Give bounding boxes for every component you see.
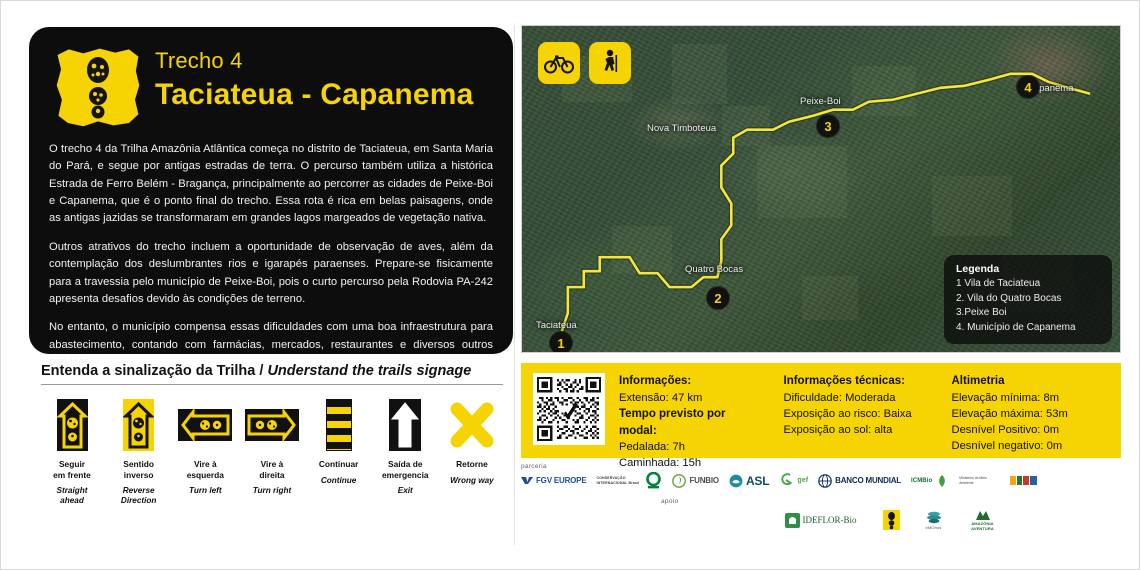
wrong-way-cross-sign-icon bbox=[441, 397, 503, 453]
banco-mundial-logo-text: BANCO MUNDIAL bbox=[835, 476, 901, 485]
gef-logo-text: gef bbox=[797, 477, 808, 484]
fgv-europe-logo-text: FGV EUROPE bbox=[536, 476, 586, 485]
signage-label-en: Turn right bbox=[241, 486, 303, 496]
support-block: apoio IDEFLOR-Bio bbox=[521, 498, 1121, 531]
info-heading: Informações técnicas: bbox=[784, 373, 934, 390]
signage-item: Continuar Continue bbox=[308, 397, 370, 507]
asl-logo: ASL bbox=[729, 474, 769, 488]
signage-item: Saída de emergencia Exit bbox=[374, 397, 436, 507]
reverse-direction-sign-icon bbox=[108, 397, 170, 453]
map-city-label: Quatro Bocas bbox=[685, 264, 743, 275]
partnership-logo-row: FGV EUROPE CONSERVAÇÃO INTERNACIONAL Bra… bbox=[521, 472, 1121, 489]
info-column-altimetry: Altimetria Elevação mínima: 8m Elevação … bbox=[951, 373, 1091, 455]
gef-logo: gef bbox=[779, 472, 808, 489]
route-map[interactable]: Nova Timboteua Peixe-Boi Capanema Quatro… bbox=[521, 25, 1121, 353]
map-legend: Legenda 1 Vila de Taciateua 2. Vila do Q… bbox=[944, 255, 1112, 344]
card-header-texts: Trecho 4 Taciateua - Capanema bbox=[155, 43, 474, 111]
straight-ahead-sign-icon bbox=[41, 397, 103, 453]
map-marker-2[interactable]: 2 bbox=[707, 287, 729, 309]
map-marker-3[interactable]: 3 bbox=[817, 115, 839, 137]
map-legend-entry: 4. Município de Capanema bbox=[956, 321, 1100, 336]
info-value: Elevação máxima: 53m bbox=[951, 406, 1091, 422]
fgv-europe-logo: FGV EUROPE bbox=[521, 476, 586, 485]
signage-title: Entenda a sinalização da Trilha / Unders… bbox=[41, 363, 503, 385]
partnership-label: parceria bbox=[521, 463, 1121, 470]
signage-item: Seguir em frente Straight ahead bbox=[41, 397, 103, 507]
signage-label-pt: Retorne bbox=[441, 459, 503, 470]
info-value: Extensão: 47 km bbox=[619, 390, 766, 406]
icmbio-logo-text: ICMBio bbox=[911, 478, 932, 484]
signage-title-pt: Entenda a sinalização da Trilha bbox=[41, 363, 255, 379]
map-marker-4[interactable]: 4 bbox=[1017, 76, 1039, 98]
amazonia-aventura-logo: AMAZÔNIA AVENTURA bbox=[968, 509, 998, 531]
signage-label-en: Continue bbox=[308, 476, 370, 486]
info-value: Exposição ao risco: Baixa bbox=[784, 406, 934, 422]
map-city-label: Nova Timboteua bbox=[647, 123, 716, 134]
signage-item: Vire à direita Turn right bbox=[241, 397, 303, 507]
icmbio-logo: ICMBio bbox=[911, 474, 949, 488]
map-city-label: Peixe-Boi bbox=[800, 96, 841, 107]
travel-mode-buttons bbox=[538, 42, 631, 84]
signage-label-en: Straight ahead bbox=[41, 486, 103, 507]
emergency-exit-sign-icon bbox=[374, 397, 436, 453]
info-value: Dificuldade: Moderada bbox=[784, 390, 934, 406]
support-label: apoio bbox=[661, 498, 1121, 505]
description-paragraph: Outros atrativos do trecho incluem a opo… bbox=[49, 239, 493, 308]
info-heading: Tempo previsto por modal: bbox=[619, 406, 766, 439]
emohos-logo: eMOhos bbox=[926, 511, 942, 530]
trail-description-card: Trecho 4 Taciateua - Capanema O trecho 4… bbox=[29, 27, 513, 354]
sponsor-logos-section: parceria FGV EUROPE CONSERVAÇÃO INTERNAC… bbox=[521, 463, 1121, 531]
map-legend-title: Legenda bbox=[956, 263, 1100, 275]
info-column-general: Informações: Extensão: 47 km Tempo previ… bbox=[619, 373, 766, 472]
map-legend-entry: 1 Vila de Taciateua bbox=[956, 277, 1100, 292]
signage-title-separator: / bbox=[255, 363, 267, 379]
trilha-logo bbox=[883, 510, 900, 530]
vertical-divider bbox=[514, 25, 515, 545]
signage-label-en: Exit bbox=[374, 486, 436, 496]
signage-label-en: Turn left bbox=[174, 486, 236, 496]
info-heading: Informações: bbox=[619, 373, 766, 390]
info-value: Desnível Positivo: 0m bbox=[951, 422, 1091, 438]
support-logo-row: IDEFLOR-Bio eMOho bbox=[661, 509, 1121, 531]
ministerio-meio-ambiente-logo: Ministério do Meio Ambiente bbox=[959, 476, 999, 485]
description-body: O trecho 4 da Trilha Amazônia Atlântica … bbox=[49, 141, 493, 371]
map-city-label: Taciateua bbox=[536, 320, 577, 331]
qr-code-icon[interactable] bbox=[533, 373, 605, 445]
signage-label-pt: Vire à esquerda bbox=[174, 459, 236, 480]
card-header: Trecho 4 Taciateua - Capanema bbox=[49, 43, 493, 127]
info-value: Exposição ao sol: alta bbox=[784, 422, 934, 438]
conservacao-internacional-logo-text: CONSERVAÇÃO INTERNACIONAL Brasil bbox=[596, 476, 642, 485]
signage-items-row: Seguir em frente Straight ahead bbox=[41, 397, 503, 507]
banco-mundial-logo: BANCO MUNDIAL bbox=[818, 474, 901, 488]
signage-item: Retorne Wrong way bbox=[441, 397, 503, 507]
signage-label-en: Reverse Direction bbox=[108, 486, 170, 507]
map-legend-entry: 2. Vila do Quatro Bocas bbox=[956, 292, 1100, 307]
turn-right-sign-icon bbox=[241, 397, 303, 453]
trail-brush-logo-icon bbox=[55, 47, 141, 127]
signage-label-pt: Sentido inverso bbox=[108, 459, 170, 480]
info-value: Elevação mínima: 8m bbox=[951, 390, 1091, 406]
signage-label-pt: Vire à direita bbox=[241, 459, 303, 480]
section-label: Trecho 4 bbox=[155, 49, 474, 73]
signage-label-pt: Seguir em frente bbox=[41, 459, 103, 480]
info-value: Pedalada: 7h bbox=[619, 439, 766, 455]
turn-left-sign-icon bbox=[174, 397, 236, 453]
signage-legend-section: Entenda a sinalização da Trilha / Unders… bbox=[41, 363, 503, 507]
page-title: Taciateua - Capanema bbox=[155, 78, 474, 111]
funbio-logo-text: FUNBIO bbox=[689, 476, 718, 485]
signage-label-en: Wrong way bbox=[441, 476, 503, 486]
signage-item: Vire à esquerda Turn left bbox=[174, 397, 236, 507]
hiker-icon[interactable] bbox=[589, 42, 631, 84]
map-legend-entry: 3.Peixe Boi bbox=[956, 306, 1100, 321]
emohos-logo-text: eMOhos bbox=[926, 525, 942, 530]
ideflor-bio-logo-text: IDEFLOR-Bio bbox=[803, 515, 857, 525]
description-paragraph: O trecho 4 da Trilha Amazônia Atlântica … bbox=[49, 141, 493, 228]
info-value: Desnível negativo: 0m bbox=[951, 438, 1091, 454]
signage-title-en: Understand the trails signage bbox=[267, 363, 471, 379]
info-heading: Altimetria bbox=[951, 373, 1091, 390]
asl-logo-text: ASL bbox=[746, 474, 769, 488]
info-column-technical: Informações técnicas: Dificuldade: Moder… bbox=[784, 373, 934, 438]
map-marker-1[interactable]: 1 bbox=[550, 332, 572, 353]
governo-federal-logo bbox=[1009, 474, 1039, 487]
signage-label-pt: Continuar bbox=[308, 459, 370, 470]
poster-root: Trecho 4 Taciateua - Capanema O trecho 4… bbox=[0, 0, 1140, 570]
continue-stripes-sign-icon bbox=[308, 397, 370, 453]
trail-info-bar: Informações: Extensão: 47 km Tempo previ… bbox=[521, 363, 1121, 458]
conservacao-internacional-logo: CONSERVAÇÃO INTERNACIONAL Brasil bbox=[596, 472, 662, 489]
amazonia-aventura-logo-text: AMAZÔNIA AVENTURA bbox=[968, 521, 998, 531]
funbio-logo: FUNBIO bbox=[672, 474, 718, 488]
signage-item: Sentido inverso Reverse Direction bbox=[108, 397, 170, 507]
ideflor-bio-logo: IDEFLOR-Bio bbox=[785, 513, 857, 528]
bicycle-icon[interactable] bbox=[538, 42, 580, 84]
signage-label-pt: Saída de emergencia bbox=[374, 459, 436, 480]
